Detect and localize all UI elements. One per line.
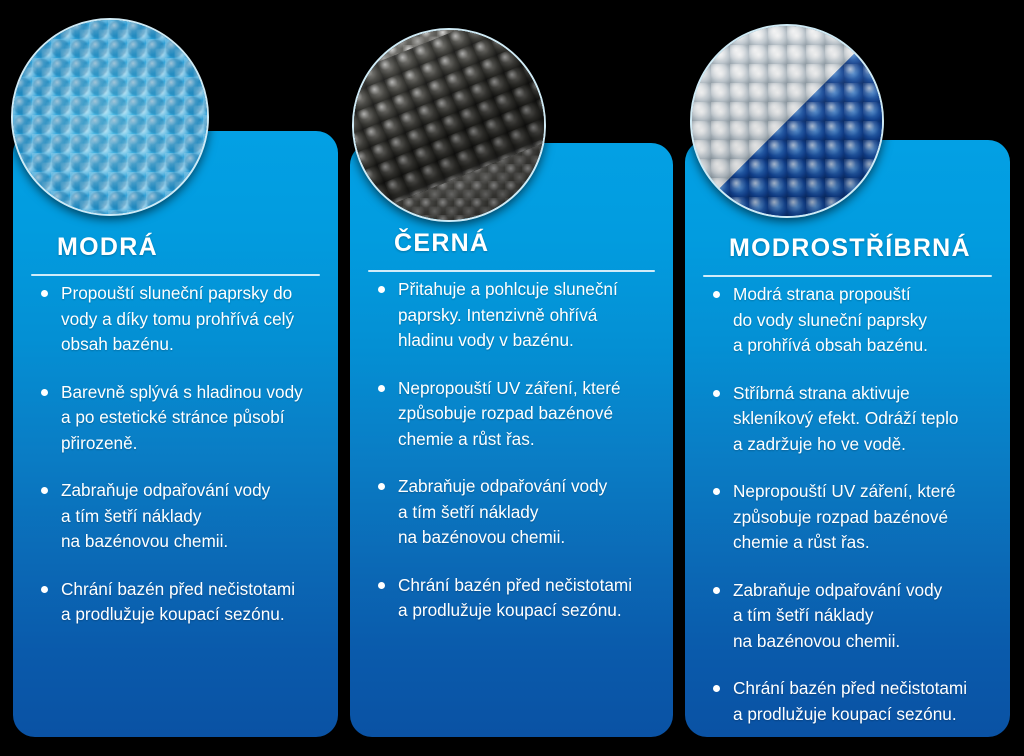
bullet-text: Nepropouští UV záření, které způsobuje r… [733,479,998,556]
bullet-text: Zabraňuje odpařování vody a tím šetří ná… [61,478,326,555]
card-modrostribrna-header: MODROSTŘÍBRNÁ [685,234,1010,277]
list-item: Chrání bazén před nečistotami a prodlužu… [376,573,661,624]
bullet-dot-icon [41,586,48,593]
bullet-text: Nepropouští UV záření, které způsobuje r… [398,376,661,453]
blue-bubble-texture [11,18,209,216]
list-item: Nepropouští UV záření, které způsobuje r… [711,479,998,556]
bullet-dot-icon [713,291,720,298]
card-modrostribrna-title: MODROSTŘÍBRNÁ [729,234,1010,263]
black-bubble-texture [352,28,546,222]
card-modrostribrna: MODROSTŘÍBRNÁ Modrá strana propouští do … [685,140,1010,737]
list-item: Zabraňuje odpařování vody a tím šetří ná… [711,578,998,655]
bullet-dot-icon [41,487,48,494]
card-modrostribrna-bullet-list: Modrá strana propouští do vody sluneční … [711,282,998,727]
bullet-dot-icon [378,483,385,490]
list-item: Chrání bazén před nečistotami a prodlužu… [39,577,326,628]
list-item: Přitahuje a pohlcuje sluneční paprsky. I… [376,277,661,354]
card-modra-header: MODRÁ [13,233,338,276]
list-item: Zabraňuje odpařování vody a tím šetří ná… [376,474,661,551]
card-cerna: ČERNÁ Přitahuje a pohlcuje sluneční papr… [350,143,673,737]
list-item: Nepropouští UV záření, které způsobuje r… [376,376,661,453]
card-modra: MODRÁ Propouští sluneční paprsky do vody… [13,131,338,737]
bullet-dot-icon [713,488,720,495]
bullet-dot-icon [378,385,385,392]
bullet-text: Barevně splývá s hladinou vody a po este… [61,380,326,457]
card-modrostribrna-divider [703,275,992,277]
bullet-text: Chrání bazén před nečistotami a prodlužu… [398,573,661,624]
bullet-dot-icon [713,685,720,692]
black-bubble-fold [352,28,546,222]
list-item: Stříbrná strana aktivuje skleníkový efek… [711,381,998,458]
card-modra-divider [31,274,320,276]
bullet-text: Zabraňuje odpařování vody a tím šetří ná… [733,578,998,655]
bullet-dot-icon [378,582,385,589]
bullet-dot-icon [713,587,720,594]
list-item: Zabraňuje odpařování vody a tím šetří ná… [39,478,326,555]
bullet-dot-icon [41,290,48,297]
list-item: Modrá strana propouští do vody sluneční … [711,282,998,359]
bullet-text: Přitahuje a pohlcuje sluneční paprsky. I… [398,277,661,354]
blue-bubble-film-swatch [11,18,209,216]
card-cerna-bullet-list: Přitahuje a pohlcuje sluneční paprsky. I… [376,277,661,624]
bullet-dot-icon [378,286,385,293]
blue-silver-bubble-texture [690,24,884,218]
bullet-text: Stříbrná strana aktivuje skleníkový efek… [733,381,998,458]
list-item: Barevně splývá s hladinou vody a po este… [39,380,326,457]
bullet-text: Propouští sluneční paprsky do vody a dík… [61,281,326,358]
bullet-text: Chrání bazén před nečistotami a prodlužu… [733,676,998,727]
bullet-text: Chrání bazén před nečistotami a prodlužu… [61,577,326,628]
card-modra-title: MODRÁ [57,233,338,262]
poster-stage: MODRÁ Propouští sluneční paprsky do vody… [0,0,1024,756]
card-cerna-header: ČERNÁ [350,229,673,272]
card-cerna-title: ČERNÁ [394,229,673,258]
list-item: Chrání bazén před nečistotami a prodlužu… [711,676,998,727]
bullet-dot-icon [41,389,48,396]
list-item: Propouští sluneční paprsky do vody a dík… [39,281,326,358]
card-cerna-divider [368,270,655,272]
bullet-dot-icon [713,390,720,397]
black-bubble-film-swatch [352,28,546,222]
bullet-text: Modrá strana propouští do vody sluneční … [733,282,998,359]
card-modra-bullet-list: Propouští sluneční paprsky do vody a dík… [39,281,326,628]
blue-silver-bubble-film-swatch [690,24,884,218]
bullet-text: Zabraňuje odpařování vody a tím šetří ná… [398,474,661,551]
